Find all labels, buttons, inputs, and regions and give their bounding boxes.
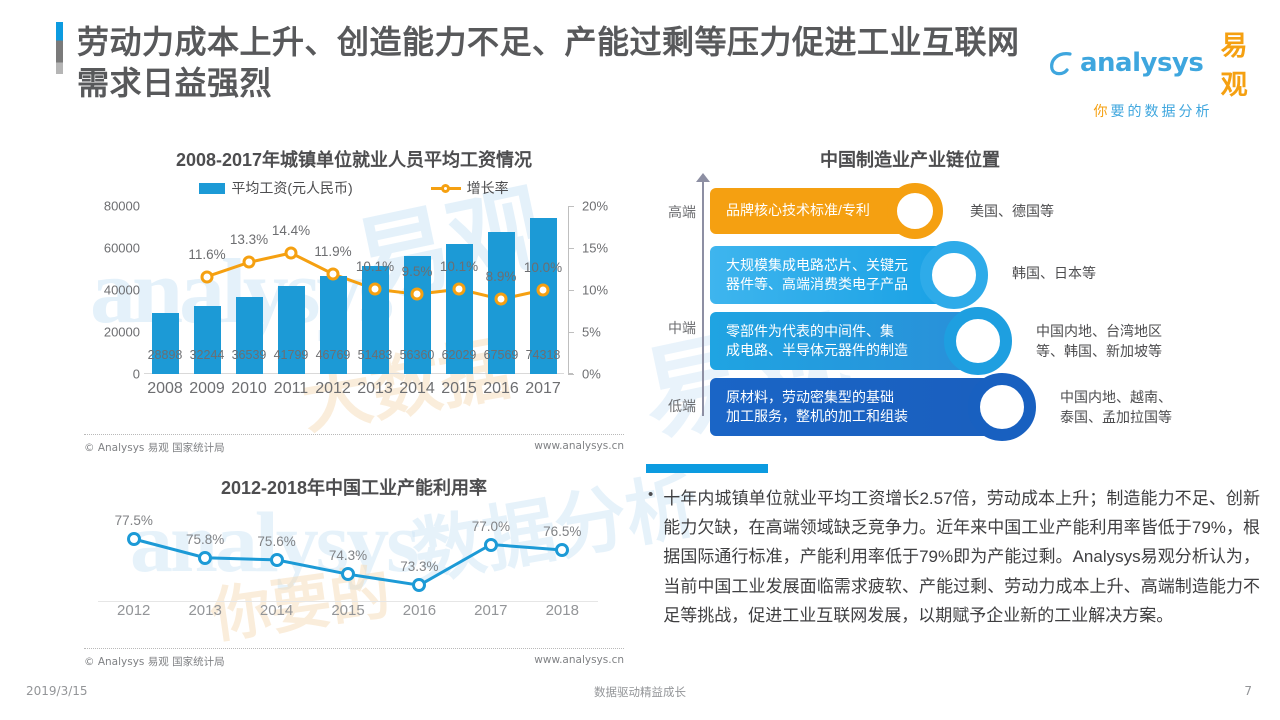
line-marker xyxy=(270,553,284,567)
line-value-label: 10.1% xyxy=(354,259,396,274)
chart1-left-tick: 20000 xyxy=(104,325,140,340)
line-value-label: 9.5% xyxy=(396,264,438,279)
chart1-right-tick: 10% xyxy=(582,283,608,298)
line-value-label: 75.6% xyxy=(257,534,295,549)
logo-tagline: 你要的数据分析 xyxy=(1048,101,1258,121)
tier-ring-icon xyxy=(887,183,943,239)
chart2-x-label: 2015 xyxy=(331,602,364,619)
line-marker xyxy=(484,538,498,552)
legend-item-avg-wage: 平均工资(元人民币) xyxy=(199,178,352,198)
bar-value-label: 32244 xyxy=(186,348,228,362)
line-value-label: 8.9% xyxy=(480,269,522,284)
line-marker xyxy=(453,283,466,296)
line-marker xyxy=(412,578,426,592)
chart2-footer-divider xyxy=(84,648,624,649)
chart1-right-tick-mark xyxy=(568,332,574,333)
bar-value-label: 56360 xyxy=(396,348,438,362)
legend-swatch-bar xyxy=(199,183,225,194)
chart1-left-tick: 60000 xyxy=(104,241,140,256)
line-marker xyxy=(198,551,212,565)
line-value-label: 75.8% xyxy=(186,532,224,547)
footer-page-number: 7 xyxy=(1244,684,1252,698)
chart1-right-tick-mark xyxy=(568,374,574,375)
pyramid-axis-label-2: 低端 xyxy=(648,396,696,416)
pyramid-vertical-axis xyxy=(702,180,704,416)
chart2-x-label: 2018 xyxy=(546,602,579,619)
title-accent-bar xyxy=(56,22,63,74)
chart1-x-label: 2013 xyxy=(354,380,396,398)
pyramid-title: 中国制造业产业链位置 xyxy=(700,146,1120,172)
chart1-x-label: 2011 xyxy=(270,380,312,398)
chart2-x-label: 2012 xyxy=(117,602,150,619)
line-marker xyxy=(369,283,382,296)
legend-label-avg-wage: 平均工资(元人民币) xyxy=(231,178,352,198)
chart2-url[interactable]: www.analysys.cn xyxy=(534,654,624,669)
chart1-left-tick: 40000 xyxy=(104,283,140,298)
chart1-x-label: 2017 xyxy=(522,380,564,398)
tier-regions-label: 中国内地、台湾地区等、韩国、新加坡等 xyxy=(1036,322,1162,361)
analysys-swoosh-icon xyxy=(1048,50,1074,76)
pyramid-axis-label-0: 高端 xyxy=(648,202,696,222)
pyramid-axis-label-1: 中端 xyxy=(648,318,696,338)
analysis-text: 十年内城镇单位就业平均工资增长2.57倍，劳动成本上升；制造能力不足、创新能力欠… xyxy=(663,484,1260,630)
line-marker xyxy=(327,268,340,281)
bar-value-label: 62029 xyxy=(438,348,480,362)
page-title: 劳动力成本上升、创造能力不足、产能过剩等压力促进工业互联网需求日益强烈 xyxy=(77,22,1020,104)
chart2-plot-area: 77.5%201275.8%201375.6%201474.3%201573.3… xyxy=(98,528,598,594)
chart1-right-tick: 5% xyxy=(582,325,601,340)
chart1-x-label: 2010 xyxy=(228,380,270,398)
value-chain-tier-label: 零部件为代表的中间件、集成电路、半导体元器件的制造 xyxy=(710,322,908,361)
chart1-x-label: 2014 xyxy=(396,380,438,398)
chart2-source: © Analysys 易观 国家统计局 xyxy=(84,654,225,669)
line-value-label: 10.1% xyxy=(438,259,480,274)
bar-value-label: 51483 xyxy=(354,348,396,362)
chart1-right-tick: 20% xyxy=(582,199,608,214)
chart1-right-tick-mark xyxy=(568,290,574,291)
logo-wordmark-cn: 易观 xyxy=(1211,24,1258,102)
tier-ring-icon xyxy=(944,307,1012,375)
line-marker xyxy=(411,288,424,301)
chart2-footer: © Analysys 易观 国家统计局 www.analysys.cn xyxy=(84,648,624,669)
chart1-left-tick: 80000 xyxy=(104,199,140,214)
line-value-label: 77.0% xyxy=(472,519,510,534)
line-value-label: 14.4% xyxy=(270,223,312,238)
bar-value-label: 67569 xyxy=(480,348,522,362)
chart2-title: 2012-2018年中国工业产能利用率 xyxy=(84,474,624,500)
chart1-right-tick-mark xyxy=(568,248,574,249)
chart1-x-label: 2009 xyxy=(186,380,228,398)
line-value-label: 74.3% xyxy=(329,548,367,563)
line-value-label: 11.6% xyxy=(186,247,228,262)
slide-title-block: 劳动力成本上升、创造能力不足、产能过剩等压力促进工业互联网需求日益强烈 xyxy=(56,22,1020,104)
table-row xyxy=(194,306,221,374)
legend-swatch-line xyxy=(431,183,461,194)
legend-label-growth: 增长率 xyxy=(467,178,509,198)
value-chain-tier-label: 大规模集成电路芯片、关键元器件等、高端消费类电子产品 xyxy=(710,256,908,295)
tier-ring-icon xyxy=(920,241,988,309)
bar-value-label: 74318 xyxy=(522,348,564,362)
value-chain-diagram: 品牌核心技术标准/专利美国、德国等大规模集成电路芯片、关键元器件等、高端消费类电… xyxy=(648,180,1268,420)
list-item[interactable]: 原材料，劳动密集型的基础加工服务，整机的加工和组装 xyxy=(710,378,1010,436)
chart1-x-label: 2015 xyxy=(438,380,480,398)
tier-regions-label: 韩国、日本等 xyxy=(1012,264,1096,284)
tier-regions-label: 中国内地、越南、泰国、孟加拉国等 xyxy=(1060,388,1172,427)
bar-value-label: 41799 xyxy=(270,348,312,362)
chart1-right-tick: 0% xyxy=(582,367,601,382)
line-marker xyxy=(495,293,508,306)
line-value-label: 73.3% xyxy=(400,559,438,574)
line-value-label: 76.5% xyxy=(543,524,581,539)
wage-bar-chart: 平均工资(元人民币) 增长率 800006000040000200000 20%… xyxy=(84,176,624,436)
value-chain-tier-label: 品牌核心技术标准/专利 xyxy=(710,201,870,220)
chart1-right-tick-mark xyxy=(568,206,574,207)
line-value-label: 77.5% xyxy=(115,513,153,528)
chart1-left-tick: 0 xyxy=(133,367,140,382)
chart2-x-label: 2013 xyxy=(188,602,221,619)
bar-value-label: 36539 xyxy=(228,348,270,362)
table-row xyxy=(152,313,179,374)
chart1-title: 2008-2017年城镇单位就业人员平均工资情况 xyxy=(84,146,624,172)
line-marker xyxy=(285,247,298,260)
chart1-url[interactable]: www.analysys.cn xyxy=(534,440,624,455)
chart1-right-tick: 15% xyxy=(582,241,608,256)
tier-ring-icon xyxy=(968,373,1036,441)
line-value-label: 13.3% xyxy=(228,232,270,247)
logo-tagline-orange: 你 xyxy=(1094,105,1111,120)
footer-slogan: 数据驱动精益成长 xyxy=(0,684,1280,700)
table-row xyxy=(236,297,263,374)
line-value-label: 10.0% xyxy=(522,260,564,275)
chart1-plot-area: 800006000040000200000 20%15%10%5%0% 2889… xyxy=(144,206,564,374)
chart1-x-label: 2012 xyxy=(312,380,354,398)
capacity-utilization-chart: 77.5%201275.8%201375.6%201474.3%201573.3… xyxy=(84,510,624,630)
line-marker xyxy=(341,567,355,581)
chart2-x-label: 2016 xyxy=(403,602,436,619)
analysis-accent-bar xyxy=(646,464,768,473)
value-chain-tier-label: 原材料，劳动密集型的基础加工服务，整机的加工和组装 xyxy=(710,388,908,427)
line-marker xyxy=(201,270,214,283)
tier-regions-label: 美国、德国等 xyxy=(970,202,1054,222)
bar-value-label: 28898 xyxy=(144,348,186,362)
chart1-x-label: 2008 xyxy=(144,380,186,398)
line-marker xyxy=(555,543,569,557)
chart1-footer-divider xyxy=(84,434,624,435)
logo-wordmark-en: analysys xyxy=(1080,48,1203,78)
analysis-block: • 十年内城镇单位就业平均工资增长2.57倍，劳动成本上升；制造能力不足、创新能… xyxy=(648,484,1260,630)
chart2-x-label: 2017 xyxy=(474,602,507,619)
chart1-footer: © Analysys 易观 国家统计局 www.analysys.cn xyxy=(84,434,624,455)
slide-footer: 2019/3/15 数据驱动精益成长 7 xyxy=(0,684,1280,704)
bar-value-label: 46769 xyxy=(312,348,354,362)
chart1-source: © Analysys 易观 国家统计局 xyxy=(84,440,225,455)
legend-item-growth: 增长率 xyxy=(431,178,509,198)
logo-tagline-blue: 要的数据分析 xyxy=(1111,105,1213,120)
line-marker xyxy=(127,532,141,546)
line-marker xyxy=(243,256,256,269)
chart1-legend: 平均工资(元人民币) 增长率 xyxy=(84,176,624,200)
slide-canvas: analysys 易观 大数据 analysys 数据分析 你要的 易观 劳动力… xyxy=(0,0,1280,720)
chart1-x-label: 2016 xyxy=(480,380,522,398)
line-marker xyxy=(537,284,550,297)
line-value-label: 11.9% xyxy=(312,244,354,259)
analysis-bullet: • xyxy=(648,484,653,630)
chart2-x-label: 2014 xyxy=(260,602,293,619)
brand-logo: analysys 易观 你要的数据分析 xyxy=(1048,24,1258,121)
